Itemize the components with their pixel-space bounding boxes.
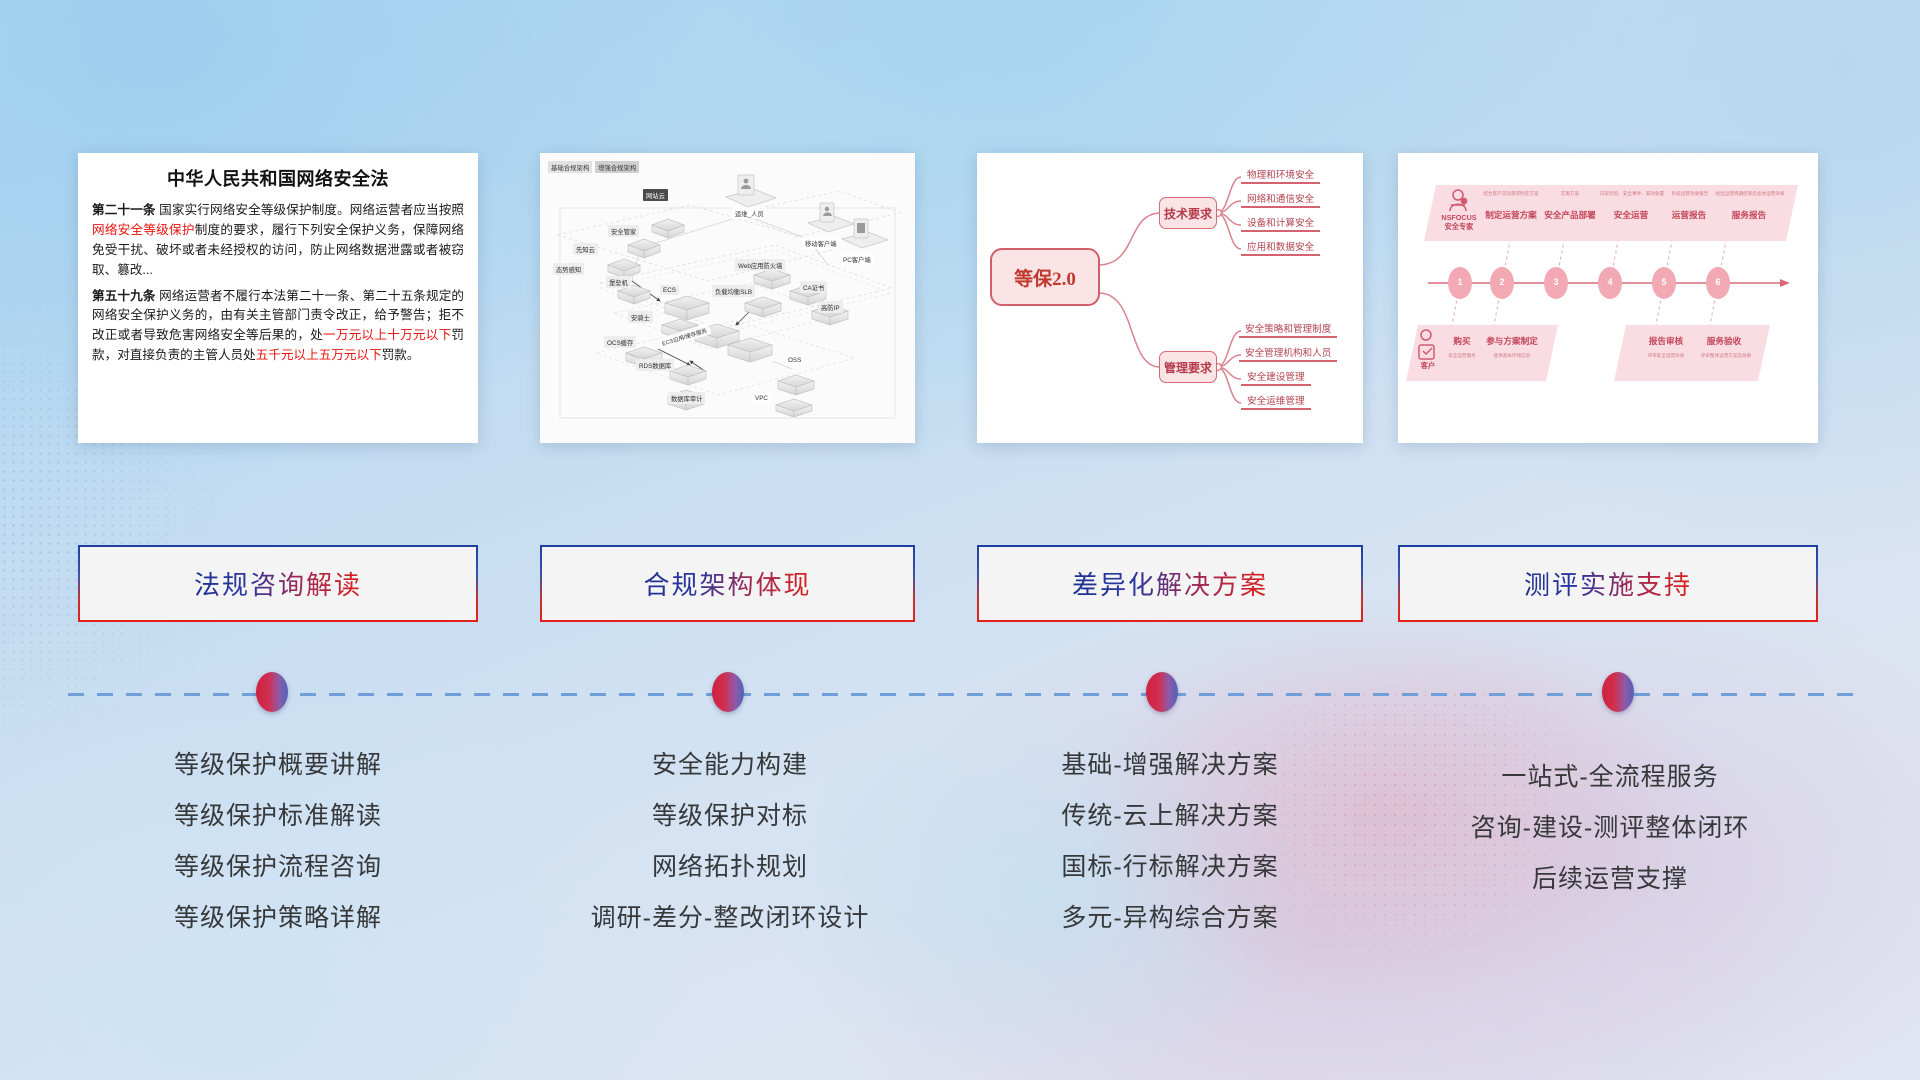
arch-node-bastion-host: 堡垒机 [606, 276, 631, 288]
nsfocus-bottom-step-title: 参与方案制定 [1476, 335, 1548, 347]
law-article-number-21: 第二十一条 [92, 203, 156, 217]
mindmap-leaf: 安全运维管理 [1241, 393, 1311, 410]
architecture-lines [540, 153, 915, 443]
mindmap-canvas: 等保2.0 技术要求 管理要求 物理和环境安全 网络和通信安全 设备和计算安全 … [977, 153, 1363, 443]
law-content: 中华人民共和国网络安全法 第二十一条 国家实行网络安全等级保护制度。网络运营者应… [78, 153, 478, 380]
nsfocus-marker: 2 [1492, 277, 1512, 287]
arch-node-ops-staff: 运维_人员 [732, 207, 767, 219]
nsfocus-marker: 1 [1450, 277, 1470, 287]
nsfocus-bottom-step-title: 服务验收 [1694, 335, 1754, 347]
arch-node-oss: OSS [785, 355, 804, 365]
list-item: 后续运营支撑 [1390, 854, 1830, 905]
list-item: 国标-行标解决方案 [960, 842, 1380, 893]
law-run-highlight: 一万元以上十万元以下 [323, 328, 451, 342]
list-item: 传统-云上解决方案 [960, 791, 1380, 842]
card-law-text: 中华人民共和国网络安全法 第二十一条 国家实行网络安全等级保护制度。网络运营者应… [78, 153, 478, 443]
list-item: 调研-差分-整改闭环设计 [520, 893, 940, 944]
arch-node-ocs-cache: OCS缓存 [604, 336, 636, 348]
law-run: 罚款。 [382, 348, 420, 362]
section-item-list-3: 基础-增强解决方案 传统-云上解决方案 国标-行标解决方案 多元-异构综合方案 [960, 740, 1380, 944]
list-item: 多元-异构综合方案 [960, 893, 1380, 944]
list-item: 咨询-建设-测评整体闭环 [1390, 803, 1830, 854]
mindmap-leaf: 设备和计算安全 [1241, 215, 1320, 232]
list-item: 安全能力构建 [520, 740, 940, 791]
arch-node-xianzhi-cloud: 先知云 [573, 243, 598, 255]
arch-node-mobile-client: 移动客户端 [802, 237, 839, 249]
arch-node-situational-awareness: 态势感知 [553, 263, 584, 275]
section-item-list-1: 等级保护概要讲解 等级保护标准解读 等级保护流程咨询 等级保护策略详解 [78, 740, 478, 944]
nsfocus-marker: 5 [1654, 277, 1674, 287]
list-item: 等级保护流程咨询 [78, 842, 478, 893]
arch-node-db-audit: 数据库审计 [668, 392, 705, 404]
arch-node-slb: 负载均衡SLB [712, 285, 755, 297]
mindmap-root-node: 等保2.0 [990, 248, 1100, 306]
timeline-dot-2 [712, 672, 744, 712]
nsfocus-bottom-step-title: 报告审核 [1636, 335, 1696, 347]
arch-node-rds-database: RDS数据库 [636, 359, 674, 371]
mindmap-branch-management: 管理要求 [1159, 351, 1217, 383]
arch-node-ecs: ECS [660, 285, 679, 295]
section-item-list-4: 一站式-全流程服务 咨询-建设-测评整体闭环 后续运营支撑 [1390, 752, 1830, 905]
arch-node-security-steward: 安全管家 [608, 225, 639, 237]
law-paragraph-21: 第二十一条 国家实行网络安全等级保护制度。网络运营者应当按照网络安全等级保护制度… [92, 201, 464, 281]
timeline-dot-3 [1146, 672, 1178, 712]
list-item: 等级保护对标 [520, 791, 940, 842]
nsfocus-expert-role-line2: 安全专家 [1426, 222, 1492, 231]
arch-node-waf: Web应用防火墙 [735, 259, 785, 271]
nsfocus-top-step-sub: 给出运营周期结束后总体运营效果 [1698, 191, 1802, 197]
timeline-dot-4 [1602, 672, 1634, 712]
section-title-box-3[interactable]: 差异化解决方案 [977, 545, 1363, 622]
arch-tab-basic[interactable]: 基础合规架构 [548, 161, 592, 173]
list-item: 等级保护概要讲解 [78, 740, 478, 791]
card-row: 中华人民共和国网络安全法 第二十一条 国家实行网络安全等级保护制度。网络运营者应… [0, 0, 1920, 470]
arch-node-anti-ddos-ip: 高防IP [818, 301, 843, 313]
list-item: 一站式-全流程服务 [1390, 752, 1830, 803]
arch-node-website-cloud: 网站云 [643, 189, 668, 201]
mindmap-leaf: 安全管理机构和人员 [1239, 345, 1337, 362]
law-run: 国家实行网络安全等级保护制度。网络运营者应当按照 [159, 203, 464, 217]
timeline-dashed-line [68, 693, 1860, 696]
arch-node-anqishi: 安骑士 [628, 311, 653, 323]
card-mindmap: 等保2.0 技术要求 管理要求 物理和环境安全 网络和通信安全 设备和计算安全 … [977, 153, 1363, 443]
list-item: 等级保护策略详解 [78, 893, 478, 944]
section-title-label: 法规咨询解读 [194, 565, 362, 602]
nsfocus-bottom-step-sub: 提供基本环境信息 [1474, 353, 1550, 359]
section-title-label: 测评实施支持 [1524, 565, 1692, 602]
list-item: 网络拓扑规划 [520, 842, 940, 893]
nsfocus-bottom-step-sub: 评审整体运营方案及效果 [1686, 353, 1766, 359]
mindmap-branch-technical: 技术要求 [1159, 197, 1217, 229]
card-nsfocus-timeline: NSFOCUS 安全专家 客户 结合客户实际需求制定方案 制定运营方案 实施方案… [1398, 153, 1818, 443]
nsfocus-marker: 6 [1708, 277, 1728, 287]
list-item: 等级保护标准解读 [78, 791, 478, 842]
architecture-canvas: 基础合规架构 增强合规架构 网站云 安全管家 先知云 态势感知 堡垒机 运维_人… [540, 153, 915, 443]
list-item: 基础-增强解决方案 [960, 740, 1380, 791]
law-paragraph-59: 第五十九条 网络运营者不履行本法第二十一条、第二十五条规定的网络安全保护义务的，… [92, 287, 464, 367]
law-title: 中华人民共和国网络安全法 [92, 165, 464, 191]
section-item-list-2: 安全能力构建 等级保护对标 网络拓扑规划 调研-差分-整改闭环设计 [520, 740, 940, 944]
nsfocus-marker: 4 [1600, 277, 1620, 287]
timeline-dot-1 [256, 672, 288, 712]
nsfocus-top-step-title: 服务报告 [1712, 209, 1786, 221]
arch-tab-enhanced[interactable]: 增强合规架构 [595, 161, 639, 173]
arch-node-vpc: VPC [752, 393, 771, 403]
section-title-label: 合规架构体现 [643, 565, 811, 602]
mindmap-leaf: 安全建设管理 [1241, 369, 1311, 386]
section-title-label: 差异化解决方案 [1072, 565, 1268, 602]
arch-node-ca-certificate: CA证书 [800, 281, 827, 293]
law-run-highlight: 网络安全等级保护 [92, 223, 195, 237]
section-title-box-1[interactable]: 法规咨询解读 [78, 545, 478, 622]
card-architecture-diagram: 基础合规架构 增强合规架构 网站云 安全管家 先知云 态势感知 堡垒机 运维_人… [540, 153, 915, 443]
nsfocus-canvas: NSFOCUS 安全专家 客户 结合客户实际需求制定方案 制定运营方案 实施方案… [1398, 153, 1818, 443]
mindmap-leaf: 安全策略和管理制度 [1239, 321, 1337, 338]
law-run-highlight: 五千元以上五万元以下 [256, 348, 382, 362]
mindmap-leaf: 应用和数据安全 [1241, 239, 1320, 256]
nsfocus-marker: 3 [1546, 277, 1566, 287]
arch-node-pc-client: PC客户端 [840, 253, 874, 265]
section-title-box-4[interactable]: 测评实施支持 [1398, 545, 1818, 622]
section-title-box-2[interactable]: 合规架构体现 [540, 545, 915, 622]
law-article-number-59: 第五十九条 [92, 289, 156, 303]
mindmap-leaf: 物理和环境安全 [1241, 167, 1320, 184]
nsfocus-customer-role: 客户 [1408, 361, 1448, 371]
mindmap-leaf: 网络和通信安全 [1241, 191, 1320, 208]
